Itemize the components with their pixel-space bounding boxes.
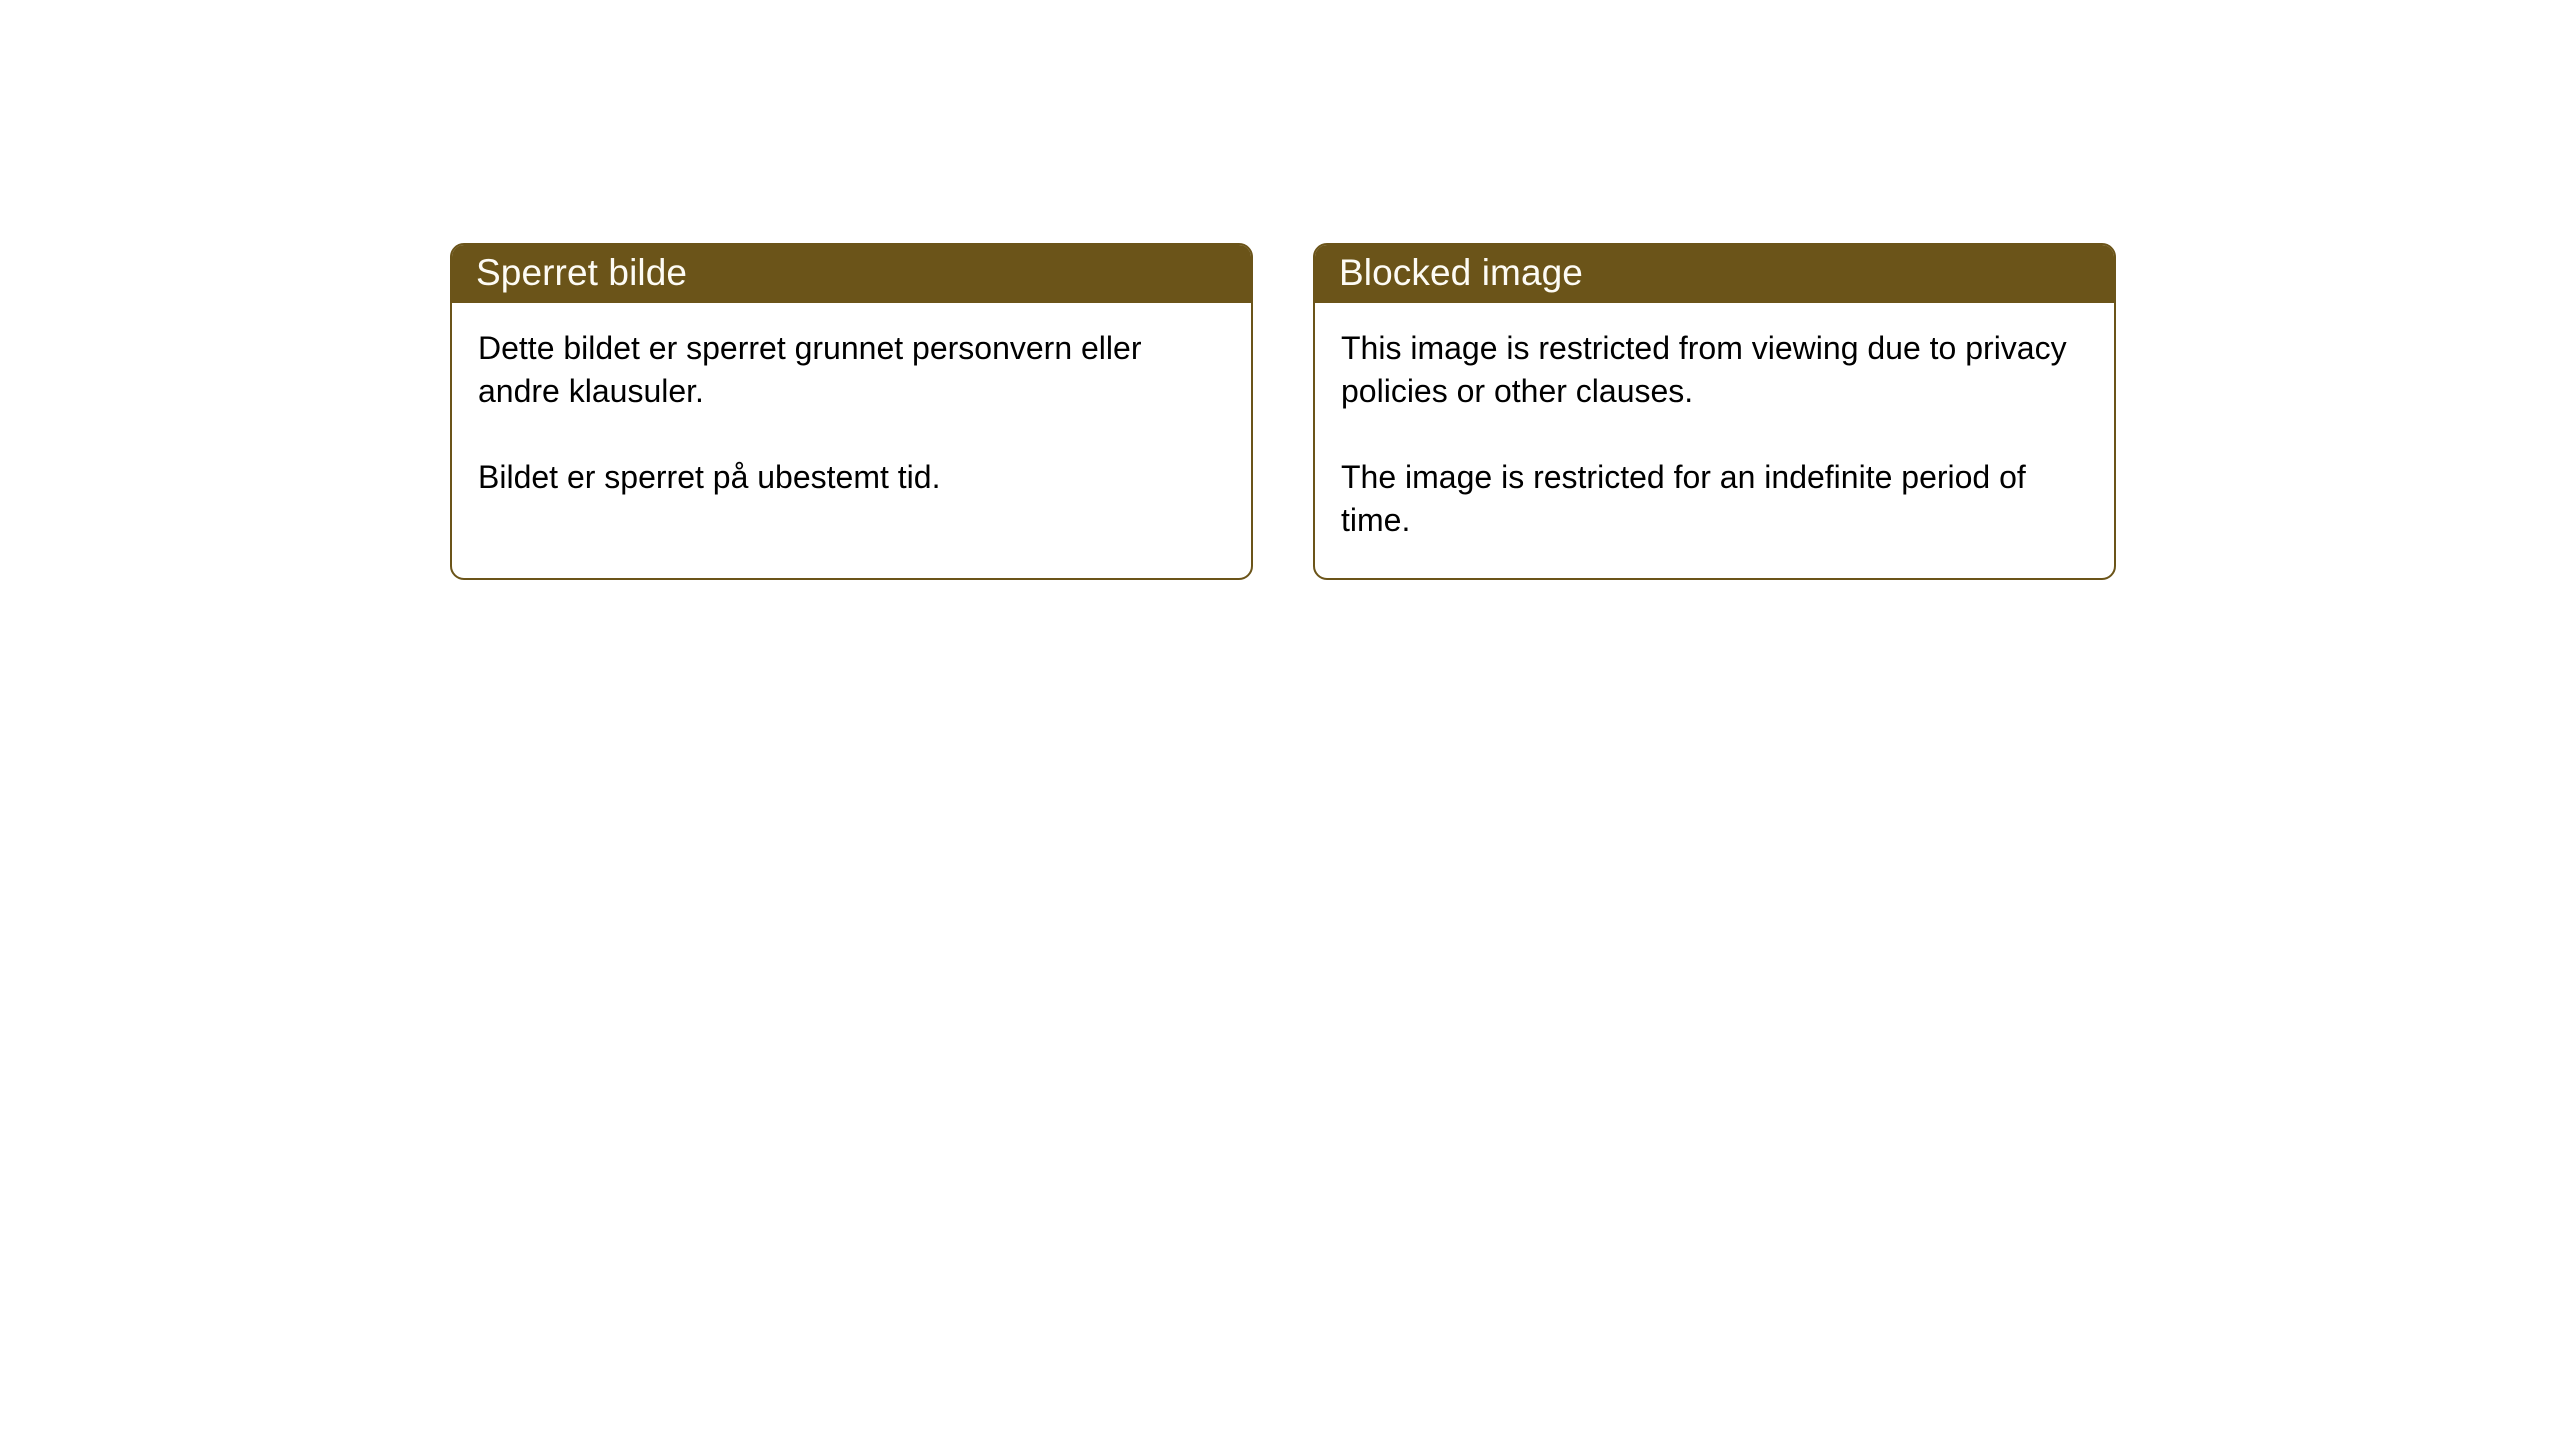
card-body-english: This image is restricted from viewing du… bbox=[1315, 303, 2114, 542]
card-title-english: Blocked image bbox=[1339, 253, 1583, 293]
card-paragraph-reason-norwegian: Dette bildet er sperret grunnet personve… bbox=[478, 327, 1218, 413]
card-header-english: Blocked image bbox=[1313, 243, 2116, 303]
page-root: Sperret bilde Dette bildet er sperret gr… bbox=[0, 0, 2560, 1440]
card-title-norwegian: Sperret bilde bbox=[476, 253, 687, 293]
blocked-image-card-english: Blocked image This image is restricted f… bbox=[1313, 243, 2116, 580]
card-paragraph-duration-norwegian: Bildet er sperret på ubestemt tid. bbox=[478, 456, 1218, 499]
card-header-norwegian: Sperret bilde bbox=[450, 243, 1253, 303]
card-paragraph-duration-english: The image is restricted for an indefinit… bbox=[1341, 456, 2081, 542]
blocked-image-card-norwegian: Sperret bilde Dette bildet er sperret gr… bbox=[450, 243, 1253, 580]
card-body-norwegian: Dette bildet er sperret grunnet personve… bbox=[452, 303, 1251, 499]
card-paragraph-reason-english: This image is restricted from viewing du… bbox=[1341, 327, 2081, 413]
